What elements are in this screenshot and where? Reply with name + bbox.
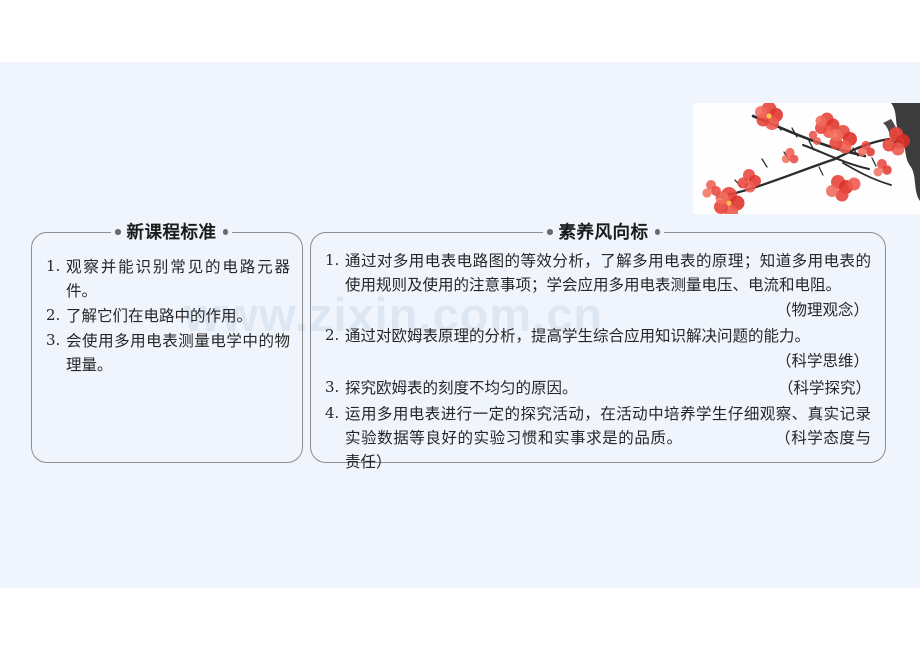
panel-new-curriculum-standard: 新课程标准 1. 观察并能识别常见的电路元器件。 2. 了解它们在电路中的作用。… [31, 232, 303, 463]
dot-icon-right-end [655, 229, 661, 235]
panel-left-body: 1. 观察并能识别常见的电路元器件。 2. 了解它们在电路中的作用。 3. 会使… [32, 255, 302, 378]
dot-icon-right-start [547, 229, 553, 235]
list-item-number: 3. [325, 376, 345, 399]
list-item-text: 通过对欧姆表原理的分析，提高学生综合应用知识解决问题的能力。 [345, 324, 871, 348]
competency-tag: （物理观念） [325, 299, 869, 322]
list-item: 3. 会使用多用电表测量电学中的物理量。 [46, 329, 290, 377]
competency-tag: （科学思维） [325, 350, 869, 373]
list-item-number: 1. [325, 249, 345, 272]
list-item-number: 4. [325, 402, 345, 425]
panel-right-title: 素养风向标 [559, 219, 649, 245]
competency-tag: （科学探究） [778, 376, 871, 400]
list-item-number: 2. [46, 304, 66, 327]
panel-left-title-group: 新课程标准 [111, 219, 232, 245]
panel-competency-guide: 素养风向标 1. 通过对多用电表电路图的等效分析，了解多用电表的原理；知道多用电… [310, 232, 886, 463]
panel-left-title: 新课程标准 [127, 219, 217, 245]
list-item: 1. 通过对多用电表电路图的等效分析，了解多用电表的原理；知道多用电表的使用规则… [325, 249, 871, 297]
list-item: 4. 运用多用电表进行一定的探究活动，在活动中培养学生仔细观察、真实记录实验数据… [325, 402, 871, 474]
list-item-number: 3. [46, 329, 66, 352]
list-item-text: 观察并能识别常见的电路元器件。 [66, 255, 290, 303]
list-item-text: 了解它们在电路中的作用。 [66, 304, 290, 328]
list-item: 3. 探究欧姆表的刻度不均匀的原因。 （科学探究） [325, 376, 871, 400]
list-item-text: 探究欧姆表的刻度不均匀的原因。 [345, 376, 778, 400]
list-item: 1. 观察并能识别常见的电路元器件。 [46, 255, 290, 303]
textbook-page: www.zixin.com.cn 新课程标准 1. 观察并能识别常见的电路元器件… [0, 0, 920, 652]
list-item: 2. 通过对欧姆表原理的分析，提高学生综合应用知识解决问题的能力。 [325, 324, 871, 348]
dot-icon-left-end [223, 229, 229, 235]
list-item-text: 通过对多用电表电路图的等效分析，了解多用电表的原理；知道多用电表的使用规则及使用… [345, 249, 871, 297]
list-item-text: 会使用多用电表测量电学中的物理量。 [66, 329, 290, 377]
panel-right-title-group: 素养风向标 [543, 219, 664, 245]
list-item-text: 运用多用电表进行一定的探究活动，在活动中培养学生仔细观察、真实记录实验数据等良好… [345, 402, 871, 474]
list-item-number: 2. [325, 324, 345, 347]
panel-right-body: 1. 通过对多用电表电路图的等效分析，了解多用电表的原理；知道多用电表的使用规则… [311, 249, 885, 476]
dot-icon-left-start [115, 229, 121, 235]
list-item: 2. 了解它们在电路中的作用。 [46, 304, 290, 328]
list-item-number: 1. [46, 255, 66, 278]
plum-blossom-image [693, 103, 920, 214]
